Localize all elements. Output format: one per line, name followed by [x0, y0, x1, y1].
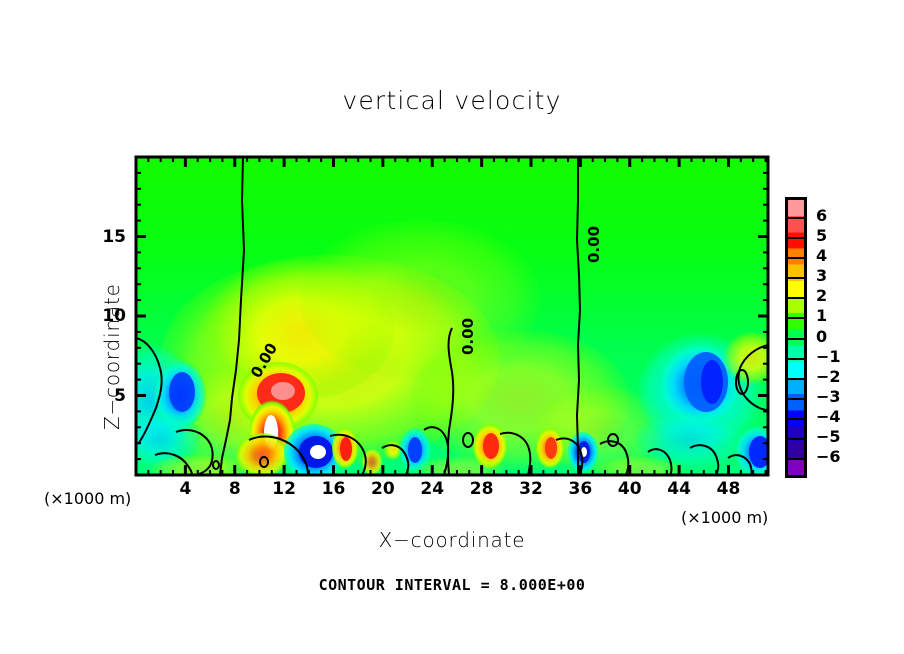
colorbar-separator: [785, 358, 807, 360]
x-tick-label: 24: [407, 479, 457, 499]
colorbar-separator: [785, 217, 807, 219]
colorbar-separator: [785, 338, 807, 340]
x-tick-label: 4: [160, 479, 210, 499]
colorbar-separator: [785, 317, 807, 319]
colorbar-tick-label: 3: [816, 266, 827, 285]
colorbar-separator: [785, 277, 807, 279]
x-tick-label: 28: [457, 479, 507, 499]
x-tick-label: 44: [654, 479, 704, 499]
colorbar-tick-label: 0: [816, 327, 827, 346]
colorbar-separator: [785, 458, 807, 460]
colorbar-separator: [785, 297, 807, 299]
colorbar-tick-label: 5: [816, 226, 827, 245]
colorbar-separator: [785, 398, 807, 400]
colorbar-tick-label: 6: [816, 206, 827, 225]
colorbar-tick-label: −4: [816, 407, 841, 426]
y-tick-label: 15: [96, 227, 126, 247]
colorbar-separator: [785, 438, 807, 440]
colorbar-tick-label: −1: [816, 347, 841, 366]
colorbar-tick-label: −6: [816, 447, 841, 466]
y-tick-label: 5: [96, 386, 126, 406]
colorbar-tick-label: −2: [816, 367, 841, 386]
colorbar-separator: [785, 257, 807, 259]
y-tick-label: 10: [96, 306, 126, 326]
contour-plot: [0, 0, 904, 654]
x-tick-label: 36: [555, 479, 605, 499]
figure-canvas: vertical velocity Z−coordinate X−coordin…: [0, 0, 904, 654]
contour-field: [102, 157, 780, 486]
x-tick-label: 20: [358, 479, 408, 499]
x-tick-label: 16: [309, 479, 359, 499]
colorbar-tick-label: 2: [816, 286, 827, 305]
colorbar-separator: [785, 378, 807, 380]
colorbar-tick-label: 4: [816, 246, 827, 265]
contour-label: 0.00: [585, 226, 603, 263]
colorbar-tick-label: −5: [816, 427, 841, 446]
contour-label: 0.00: [459, 318, 477, 355]
x-tick-label: 32: [506, 479, 556, 499]
x-tick-label: 48: [704, 479, 754, 499]
x-tick-label: 12: [259, 479, 309, 499]
colorbar-separator: [785, 237, 807, 239]
colorbar-separator: [785, 418, 807, 420]
colorbar-tick-label: −3: [816, 387, 841, 406]
x-tick-label: 8: [210, 479, 260, 499]
x-tick-label: 40: [605, 479, 655, 499]
colorbar-tick-label: 1: [816, 306, 827, 325]
